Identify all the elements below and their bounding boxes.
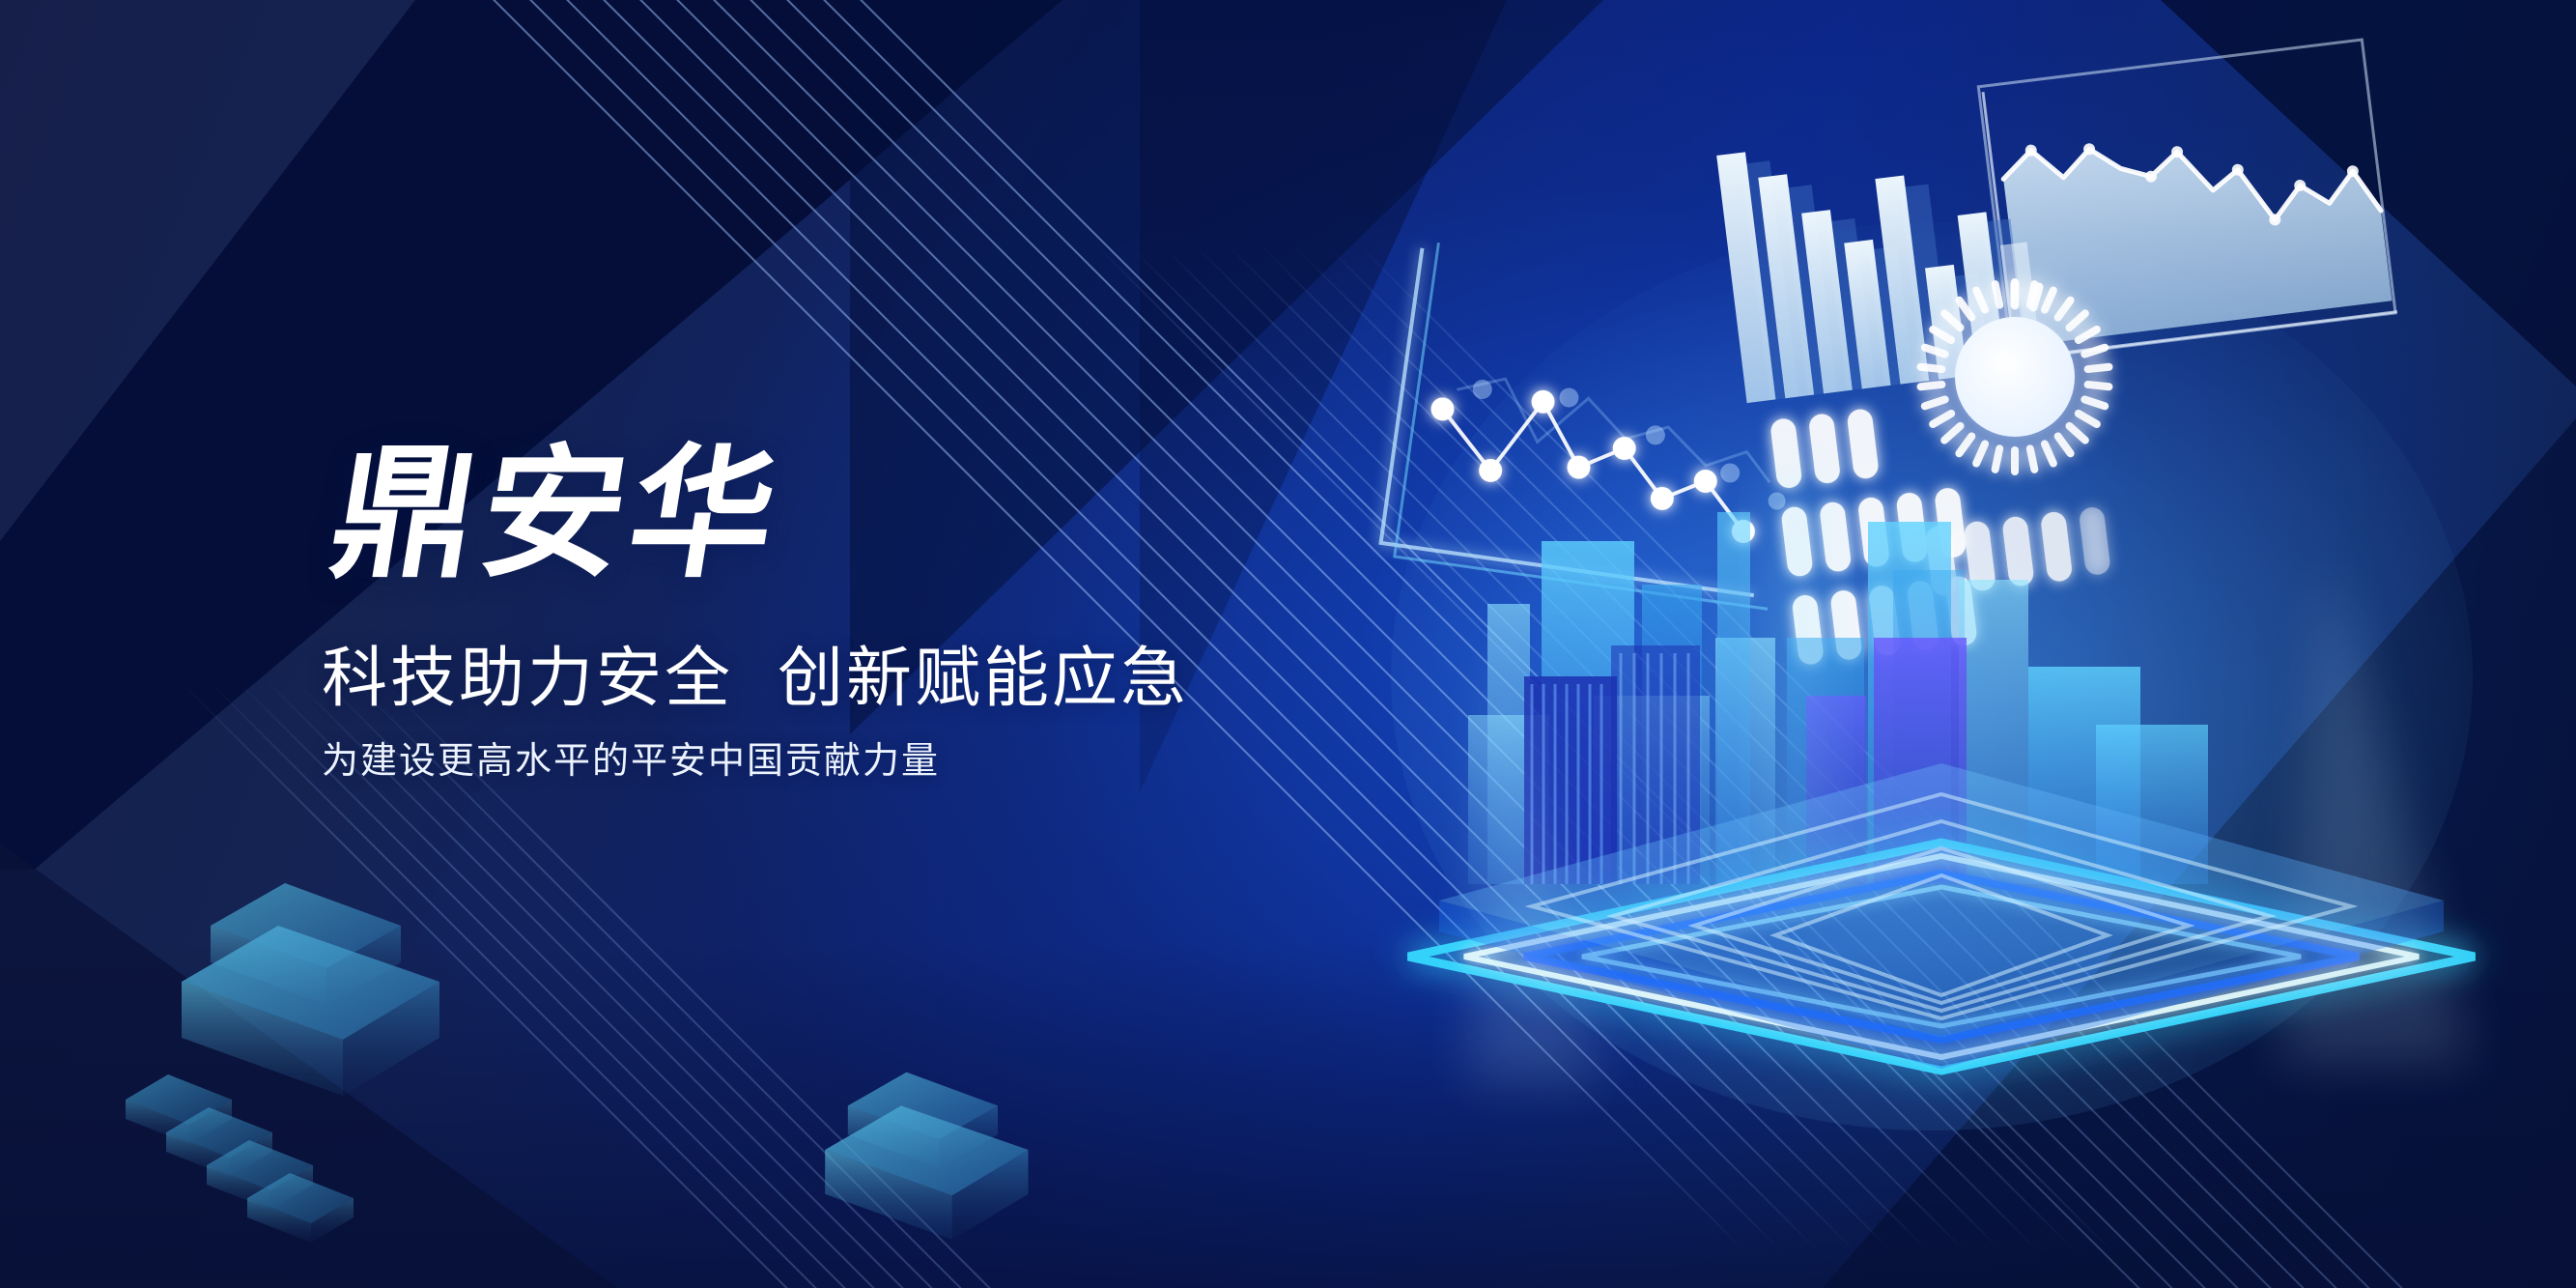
brand-text-block: 鼎安华 科技助力安全创新赋能应急 为建设更高水平的平安中国贡献力量 [322, 440, 1288, 785]
isometric-data-city-illustration [1352, 58, 2531, 1217]
brand-tagline: 为建设更高水平的平安中国贡献力量 [322, 740, 1288, 785]
promo-banner: 鼎安华 科技助力安全创新赋能应急 为建设更高水平的平安中国贡献力量 [0, 0, 2576, 1288]
headline-right: 创新赋能应急 [778, 642, 1189, 715]
brand-logo-text: 鼎安华 [322, 440, 1312, 591]
iso-cube-stack-center [811, 1053, 1062, 1275]
iso-step-tiles [126, 1053, 473, 1275]
headline-left: 科技助力安全 [322, 642, 733, 715]
area-chart-panel [1978, 40, 2397, 360]
brand-headline: 科技助力安全创新赋能应急 [322, 642, 1288, 715]
